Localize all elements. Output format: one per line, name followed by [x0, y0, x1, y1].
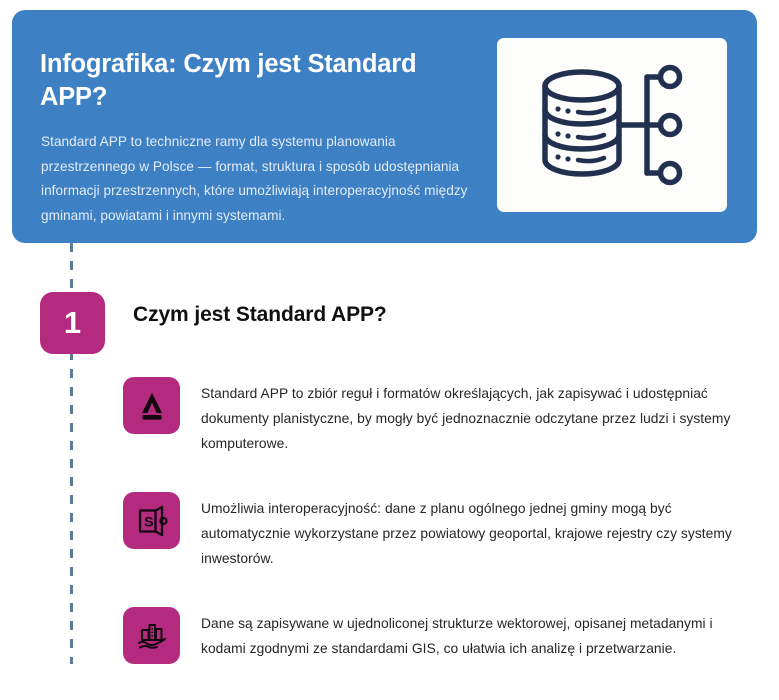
header-subtitle: Standard APP to techniczne ramy dla syst… — [41, 130, 491, 228]
bullet-icon-wrapper — [123, 607, 180, 664]
bullet-icon-wrapper — [123, 377, 180, 434]
svg-text:S: S — [144, 513, 153, 529]
database-network-icon — [537, 60, 687, 190]
bullet-text: Dane są zapisywane w ujednoliconej struk… — [201, 607, 746, 661]
header-icon-box — [497, 38, 727, 212]
list-item: Dane są zapisywane w ujednoliconej struk… — [123, 607, 763, 664]
list-item: Standard APP to zbiór reguł i formatów o… — [123, 377, 763, 456]
bullet-list: Standard APP to zbiór reguł i formatów o… — [123, 377, 763, 700]
bullet-text: Umożliwia interoperacyjność: dane z plan… — [201, 492, 746, 571]
step-badge-1: 1 — [40, 292, 105, 354]
bullet-text: Standard APP to zbiór reguł i formatów o… — [201, 377, 746, 456]
list-item: S Umożliwia interoperacyjność: dane z pl… — [123, 492, 763, 571]
step-number: 1 — [64, 307, 81, 340]
sharepoint-s-icon: S — [135, 504, 169, 538]
bullet-icon-wrapper: S — [123, 492, 180, 549]
page-title: Infografika: Czym jest Standard APP? — [40, 48, 465, 114]
header-card: Infografika: Czym jest Standard APP? Sta… — [12, 10, 757, 243]
text-format-a-icon — [135, 389, 169, 423]
step-heading: Czym jest Standard APP? — [133, 303, 387, 327]
buildings-on-hand-icon — [135, 619, 169, 653]
